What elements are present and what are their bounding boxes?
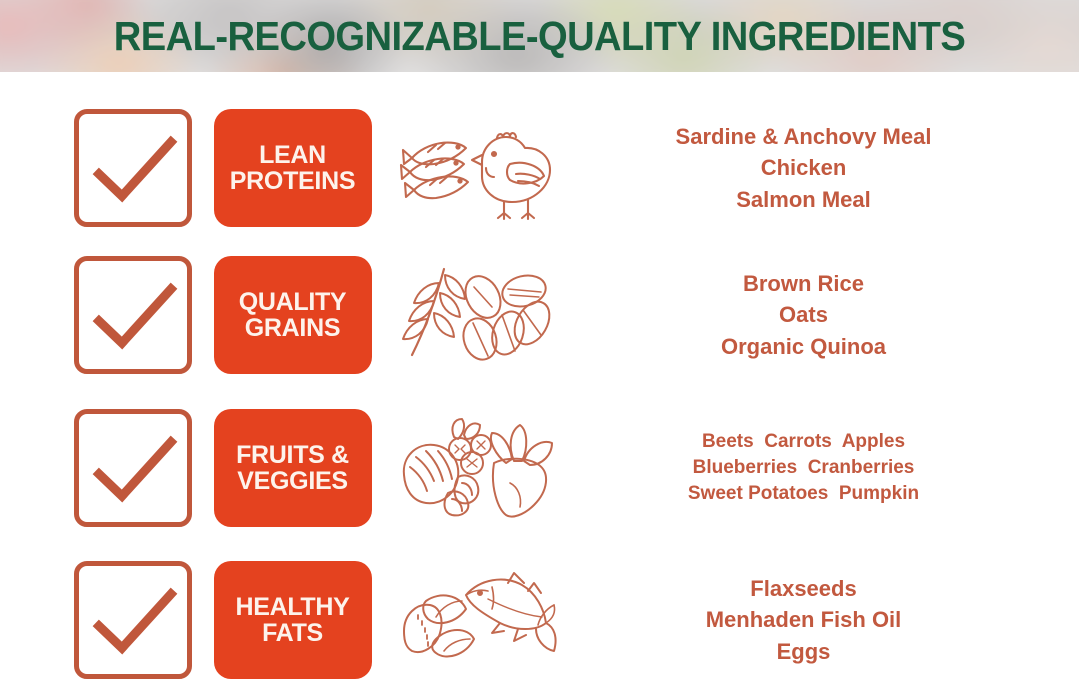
- category-badge-quality-grains[interactable]: QUALITY GRAINS: [214, 256, 372, 374]
- ingredient-line: Flaxseeds: [750, 573, 856, 604]
- badge-line-1: QUALITY: [239, 289, 347, 315]
- badge-cell: HEALTHY FATS: [200, 561, 385, 679]
- checkbox-cell: [0, 256, 200, 374]
- category-badge-lean-proteins[interactable]: LEAN PROTEINS: [214, 109, 372, 227]
- badge-line-2: VEGGIES: [237, 468, 347, 494]
- icon-cell: [385, 261, 570, 369]
- badge-line-1: HEALTHY: [235, 594, 349, 620]
- badge-line-1: FRUITS &: [236, 442, 349, 468]
- badge-line-2: GRAINS: [245, 315, 340, 341]
- checkbox-cell: [0, 109, 200, 227]
- ingredient-line: Oats: [779, 299, 828, 330]
- ingredients-cell-lean-proteins: Sardine & Anchovy Meal Chicken Salmon Me…: [570, 121, 1079, 215]
- checked-box-icon[interactable]: [74, 109, 192, 227]
- checkbox-cell: [0, 561, 200, 679]
- badge-line-2: PROTEINS: [230, 168, 355, 194]
- fish-and-chicken-icon: [398, 114, 558, 222]
- icon-cell: [385, 114, 570, 222]
- header-banner: REAL-RECOGNIZABLE-QUALITY INGREDIENTS: [0, 0, 1079, 72]
- ingredient-line: Blueberries Cranberries: [693, 455, 915, 481]
- ingredient-line: Brown Rice: [743, 268, 864, 299]
- badge-cell: QUALITY GRAINS: [200, 256, 385, 374]
- ingredient-row-healthy-fats: HEALTHY FATS: [0, 544, 1079, 682]
- ingredient-line: Sweet Potatoes Pumpkin: [688, 481, 919, 507]
- category-badge-healthy-fats[interactable]: HEALTHY FATS: [214, 561, 372, 679]
- ingredient-line: Beets Carrots Apples: [702, 429, 905, 455]
- ingredient-row-quality-grains: QUALITY GRAINS: [0, 239, 1079, 391]
- badge-cell: FRUITS & VEGGIES: [200, 409, 385, 527]
- ingredient-line: Chicken: [761, 152, 847, 183]
- ingredient-line: Eggs: [777, 636, 831, 667]
- ingredient-line: Sardine & Anchovy Meal: [676, 121, 932, 152]
- checked-box-icon[interactable]: [74, 409, 192, 527]
- badge-line-1: LEAN: [259, 142, 326, 168]
- ingredient-row-fruits-veggies: FRUITS & VEGGIES: [0, 392, 1079, 544]
- ingredient-line: Organic Quinoa: [721, 331, 886, 362]
- icon-cell: [385, 565, 570, 675]
- badge-line-2: FATS: [262, 620, 323, 646]
- wheat-and-grains-icon: [398, 261, 558, 369]
- ingredients-cell-fruits-veggies: Beets Carrots Apples Blueberries Cranber…: [570, 429, 1079, 507]
- checked-box-icon[interactable]: [74, 256, 192, 374]
- ingredients-cell-healthy-fats: Flaxseeds Menhaden Fish Oil Eggs: [570, 573, 1079, 667]
- icon-cell: [385, 413, 570, 523]
- ingredient-rows: LEAN PROTEINS: [0, 72, 1079, 682]
- ingredient-line: Salmon Meal: [736, 184, 870, 215]
- ingredients-cell-quality-grains: Brown Rice Oats Organic Quinoa: [570, 268, 1079, 362]
- category-badge-fruits-veggies[interactable]: FRUITS & VEGGIES: [214, 409, 372, 527]
- vegetables-and-berries-icon: [396, 413, 560, 523]
- page-title: REAL-RECOGNIZABLE-QUALITY INGREDIENTS: [38, 0, 1041, 72]
- flaxseed-and-fish-icon: [396, 565, 560, 675]
- ingredients-infographic: REAL-RECOGNIZABLE-QUALITY INGREDIENTS LE…: [0, 0, 1079, 682]
- ingredient-row-lean-proteins: LEAN PROTEINS: [0, 92, 1079, 244]
- checkbox-cell: [0, 409, 200, 527]
- checked-box-icon[interactable]: [74, 561, 192, 679]
- badge-cell: LEAN PROTEINS: [200, 109, 385, 227]
- ingredient-line: Menhaden Fish Oil: [706, 604, 902, 635]
